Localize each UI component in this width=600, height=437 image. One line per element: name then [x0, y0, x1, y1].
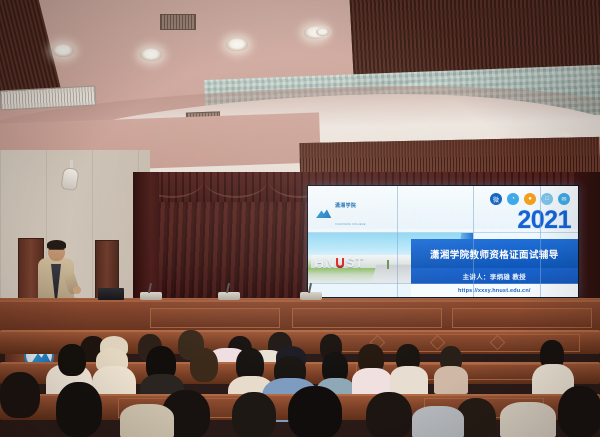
- school-logo-icon: [315, 207, 332, 218]
- wechat-icon: ◔: [507, 193, 519, 205]
- audience-head-front: [232, 392, 276, 437]
- audience-head-front: [558, 386, 600, 437]
- audience-coat-front: [412, 406, 464, 437]
- stage-table-panel-3: [452, 308, 592, 328]
- weibo-icon: 微: [490, 193, 502, 205]
- slide-logo: 潇湘学院 XIAOXIANG COLLEGE: [315, 194, 366, 230]
- audience-coat-front: [500, 402, 556, 437]
- slide-year: 2021: [517, 208, 571, 233]
- audience-head-front: [366, 392, 412, 437]
- panel-seam-h2: [308, 283, 578, 284]
- presenter-glasses: [49, 249, 64, 252]
- audience-head-front: [288, 386, 342, 437]
- audience-head: [190, 348, 218, 382]
- audience-head-front: [56, 382, 102, 437]
- desk-microphone-3: [300, 292, 322, 300]
- mail-icon: ✉: [558, 193, 570, 205]
- slide-title-bar: 潇湘学院教师资格证面试辅导: [411, 239, 578, 268]
- panel-seam-h1: [308, 232, 578, 233]
- audience-coat: [390, 366, 428, 396]
- ceiling-light-3: [226, 38, 248, 51]
- panel-seam-v2: [473, 186, 474, 297]
- panel-seam-v3: [540, 186, 541, 297]
- stage-table-panel-2: [292, 308, 442, 328]
- presenter-hair: [47, 240, 66, 249]
- campus-tree-1: [387, 260, 389, 269]
- desk-microphone-2: [218, 292, 240, 300]
- audience-head-front: [0, 372, 40, 418]
- presenter-hand: [73, 286, 81, 294]
- ceiling-light-16: [316, 28, 329, 36]
- curtain-left-edge: [133, 172, 159, 302]
- ceiling-light-2: [140, 48, 162, 61]
- presentation-slide: 潇湘学院 XIAOXIANG COLLEGE 微 ◔ ● □ ✉ 2021 HN…: [308, 186, 578, 297]
- ceiling-light-1: [52, 44, 74, 57]
- slide-url-bar: https://xxxy.hnust.edu.cn/: [411, 284, 578, 297]
- panel-seam-v1: [397, 186, 398, 297]
- stage-table-panel-1: [150, 308, 280, 328]
- campus-wordmark: HNUST: [315, 255, 365, 270]
- audience-coat: [434, 366, 468, 394]
- curtain-right-edge: [576, 172, 600, 302]
- qq-icon: ●: [524, 193, 536, 205]
- wall-speaker: [61, 167, 80, 191]
- led-video-wall[interactable]: 潇湘学院 XIAOXIANG COLLEGE 微 ◔ ● □ ✉ 2021 HN…: [307, 185, 579, 298]
- slide-url: https://xxxy.hnust.edu.cn/: [458, 288, 531, 294]
- desk-microphone-1: [140, 292, 162, 300]
- ceiling-vent: [160, 14, 196, 30]
- laptop-on-table: [98, 288, 124, 300]
- slide-subtitle-bar: 主讲人：李炳雄 教授: [411, 268, 578, 284]
- slide-social-icons: 微 ◔ ● □ ✉: [490, 193, 570, 205]
- audience-coat-front: [120, 404, 174, 437]
- audience-head: [58, 344, 86, 376]
- app-icon: □: [541, 193, 553, 205]
- lecture-hall-photo: 潇湘学院 XIAOXIANG COLLEGE 微 ◔ ● □ ✉ 2021 HN…: [0, 0, 600, 437]
- school-logo-text: 潇湘学院 XIAOXIANG COLLEGE: [335, 194, 366, 230]
